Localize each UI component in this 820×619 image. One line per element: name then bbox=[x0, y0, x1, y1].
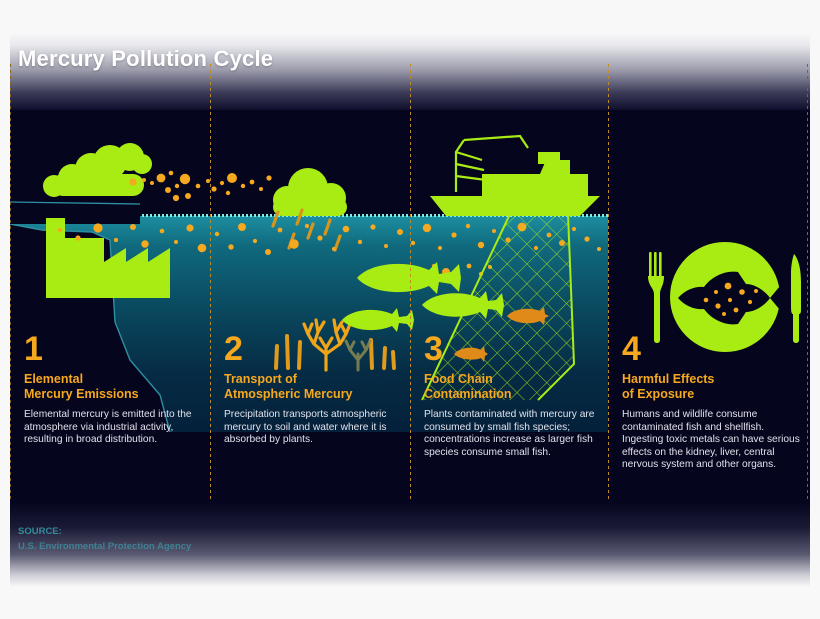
panel-1-heading-line1: Elemental bbox=[24, 372, 83, 386]
panel-1: 1 Elemental Mercury Emissions Elemental … bbox=[24, 332, 209, 447]
panel-3-heading: Food Chain Contamination bbox=[424, 372, 609, 401]
panel-3-body: Plants contaminated with mercury are con… bbox=[424, 409, 609, 459]
panel-2-heading: Transport of Atmospheric Mercury bbox=[224, 372, 409, 401]
panel-2-heading-line1: Transport of bbox=[224, 372, 297, 386]
contaminated-fish-icon bbox=[505, 305, 551, 327]
panel-2-body: Precipitation transports atmospheric mer… bbox=[224, 409, 409, 447]
panel-1-heading-line2: Mercury Emissions bbox=[24, 387, 139, 401]
panel-2-heading-line2: Atmospheric Mercury bbox=[224, 387, 353, 401]
panel-edge-right bbox=[807, 64, 808, 564]
source-label: SOURCE: bbox=[18, 524, 318, 539]
panel-4: 4 Harmful Effects of Exposure Humans and… bbox=[622, 332, 808, 472]
panel-3-number: 3 bbox=[424, 332, 609, 366]
panel-4-heading-line1: Harmful Effects bbox=[622, 372, 714, 386]
panel-divider-3 bbox=[608, 64, 609, 552]
source-credit: SOURCE: U.S. Environmental Protection Ag… bbox=[18, 524, 318, 554]
panel-1-body: Elemental mercury is emitted into the at… bbox=[24, 409, 209, 447]
infographic-frame: Mercury Pollution Cycle bbox=[10, 32, 810, 587]
page-title: Mercury Pollution Cycle bbox=[18, 46, 273, 72]
panel-1-number: 1 bbox=[24, 332, 209, 366]
panel-4-heading-line2: of Exposure bbox=[622, 387, 694, 401]
panel-2-number: 2 bbox=[224, 332, 409, 366]
panel-3-heading-line2: Contamination bbox=[424, 387, 512, 401]
panel-divider-1 bbox=[210, 64, 211, 552]
panel-3-heading-line1: Food Chain bbox=[424, 372, 493, 386]
panel-4-number: 4 bbox=[622, 332, 808, 366]
mercury-particles-icon bbox=[128, 160, 288, 220]
fishing-boat-icon bbox=[420, 130, 610, 222]
panel-edge-left bbox=[10, 64, 11, 564]
panel-4-heading: Harmful Effects of Exposure bbox=[622, 372, 808, 401]
panel-1-heading: Elemental Mercury Emissions bbox=[24, 372, 209, 401]
fish-icon bbox=[340, 306, 416, 334]
panel-divider-2 bbox=[410, 64, 411, 552]
panel-2: 2 Transport of Atmospheric Mercury Preci… bbox=[224, 332, 409, 447]
infographic-root: Mercury Pollution Cycle bbox=[0, 0, 820, 619]
panel-4-body: Humans and wildlife consume contaminated… bbox=[622, 409, 808, 472]
panel-3: 3 Food Chain Contamination Plants contam… bbox=[424, 332, 609, 459]
source-agency: U.S. Environmental Protection Agency bbox=[18, 539, 318, 554]
